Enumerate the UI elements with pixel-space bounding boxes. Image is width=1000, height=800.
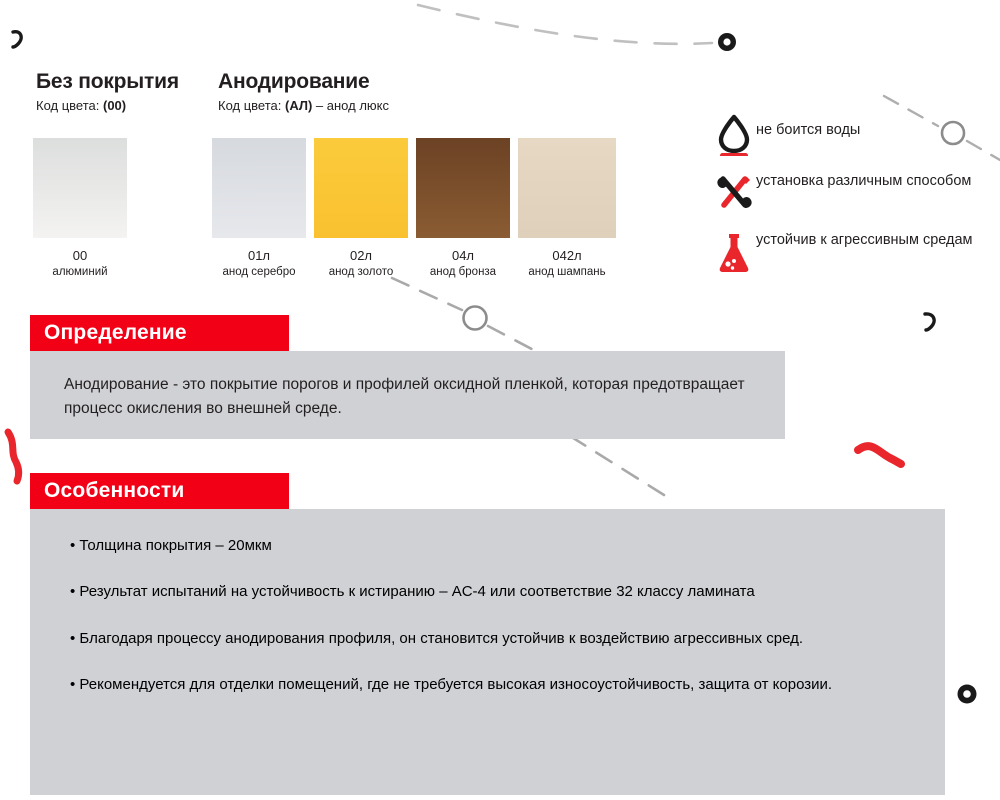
- feature-item-water: не боится воды: [712, 112, 992, 156]
- color-swatch[interactable]: 042л анод шампань: [518, 138, 616, 278]
- swatch-name: алюминий: [52, 266, 107, 278]
- dashed-curve-top: [418, 5, 712, 44]
- column-subtitle-suffix: – анод люкс: [312, 98, 389, 113]
- feature-label: установка различным способом: [756, 171, 971, 189]
- swatch-group-anodizing: 01л анод серебро 02л анод золото 04л ано…: [212, 138, 616, 278]
- definition-text: Анодирование - это покрытие порогов и пр…: [64, 376, 745, 417]
- column-title: Без покрытия: [36, 70, 179, 94]
- swatch-code: 04л: [452, 248, 474, 263]
- feature-bullet: • Благодаря процессу анодирования профил…: [70, 626, 921, 652]
- squiggle-left: [8, 432, 19, 481]
- swatch-code: 02л: [350, 248, 372, 263]
- column-subtitle-code: (00): [103, 98, 126, 113]
- section-tab-definition: Определение: [30, 315, 289, 351]
- column-header-anodizing: Анодирование Код цвета: (АЛ) – анод люкс: [218, 70, 389, 113]
- column-title: Анодирование: [218, 70, 389, 94]
- swatch-chip: [416, 138, 510, 238]
- column-subtitle-code: (АЛ): [285, 98, 312, 113]
- color-swatch[interactable]: 04л анод бронза: [416, 138, 510, 278]
- swatch-chip: [314, 138, 408, 238]
- feature-item-chemical: устойчив к агрессивным средам: [712, 230, 992, 274]
- color-swatch[interactable]: 01л анод серебро: [212, 138, 306, 278]
- swatch-group-no-coating: 00 алюминий: [33, 138, 127, 278]
- swatch-name: анод серебро: [223, 266, 296, 278]
- comma-mark-topleft: [13, 32, 21, 47]
- swatch-name: анод бронза: [430, 266, 496, 278]
- column-header-no-coating: Без покрытия Код цвета: (00): [36, 70, 179, 113]
- dashed-line-center-upper: [392, 278, 462, 310]
- feature-bullet: • Результат испытаний на устойчивость к …: [70, 579, 921, 605]
- section-tab-features: Особенности: [30, 473, 289, 509]
- swatch-chip: [33, 138, 127, 238]
- features-panel: • Толщина покрытия – 20мкм • Результат и…: [30, 509, 945, 795]
- color-swatch[interactable]: 00 алюминий: [33, 138, 127, 278]
- feature-label: не боится воды: [756, 112, 860, 138]
- squiggle-right: [858, 446, 901, 464]
- feature-list: не боится воды установка различным спосо…: [712, 112, 992, 289]
- water-drop-icon: [712, 112, 756, 156]
- swatch-code: 042л: [552, 248, 581, 263]
- swatch-code: 00: [73, 248, 87, 263]
- tools-cross-icon: [712, 171, 756, 215]
- swatch-chip: [212, 138, 306, 238]
- column-subtitle: Код цвета: (00): [36, 98, 179, 113]
- donut-marker-top: [718, 33, 736, 51]
- feature-item-installation: установка различным способом: [712, 171, 992, 215]
- flask-icon: [712, 230, 756, 274]
- swatch-name: анод золото: [329, 266, 394, 278]
- swatch-name: анод шампань: [528, 266, 605, 278]
- feature-label: устойчив к агрессивным средам: [756, 230, 973, 248]
- color-swatch[interactable]: 02л анод золото: [314, 138, 408, 278]
- column-subtitle: Код цвета: (АЛ) – анод люкс: [218, 98, 389, 113]
- column-subtitle-prefix: Код цвета:: [36, 98, 103, 113]
- ring-marker-center: [464, 307, 487, 330]
- infographic-page: Без покрытия Код цвета: (00) Анодировани…: [0, 0, 1000, 800]
- feature-bullet: • Толщина покрытия – 20мкм: [70, 533, 921, 559]
- donut-marker-bottom: [958, 685, 977, 704]
- swatch-chip: [518, 138, 616, 238]
- comma-mark-right: [925, 314, 934, 330]
- column-subtitle-prefix: Код цвета:: [218, 98, 285, 113]
- dashed-line-bottom: [570, 436, 672, 500]
- swatch-code: 01л: [248, 248, 270, 263]
- feature-bullet: • Рекомендуется для отделки помещений, г…: [70, 672, 921, 698]
- definition-panel: Анодирование - это покрытие порогов и пр…: [30, 351, 785, 439]
